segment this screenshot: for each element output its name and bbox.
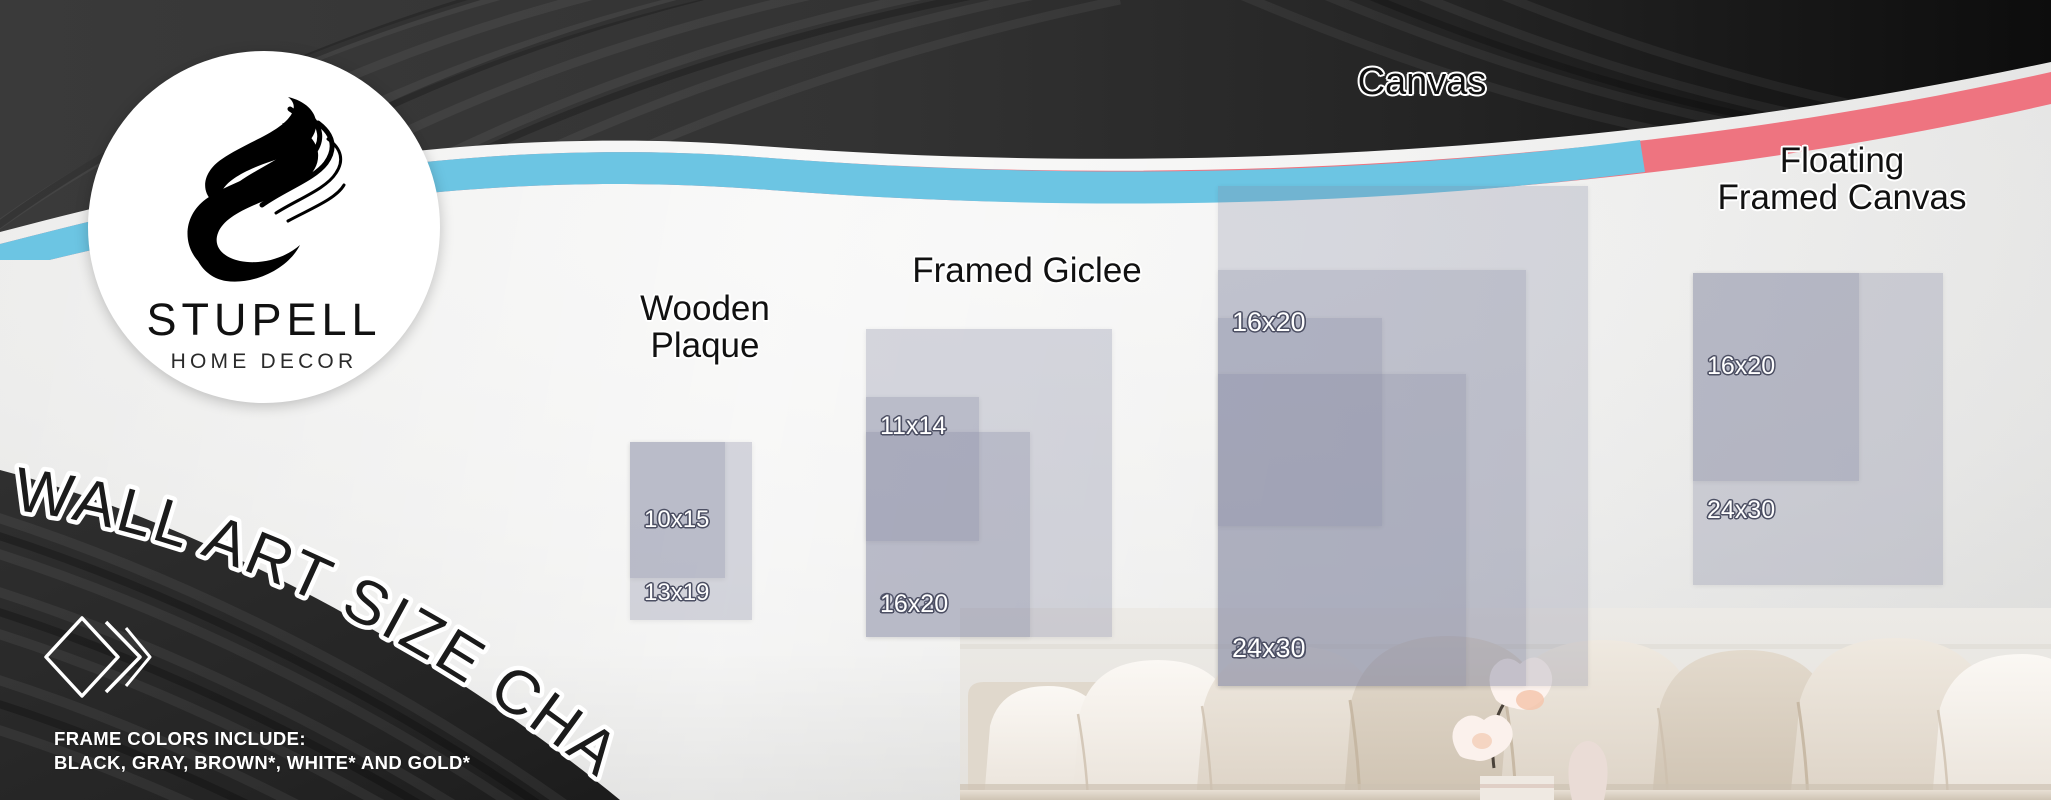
stupell-logo-badge: STUPELL HOME DECOR [88, 51, 440, 403]
size-label-24x30: 24x30 [1232, 633, 1306, 664]
size-box-16x20: 16x20 [1693, 273, 1859, 481]
size-box-10x15: 10x15 [630, 442, 725, 578]
product-group-framed-giclee: Framed Giclee 24x30 16x20 11x14 [840, 252, 1170, 637]
size-label-16x20: 16x20 [1232, 307, 1306, 338]
stupell-s-swoosh-logo [176, 93, 352, 293]
product-group-canvas: Canvas 36x48 30x40 24x30 16x20 [1200, 62, 1600, 686]
size-label-16x20: 16x20 [1707, 352, 1775, 381]
size-label-11x14: 11x14 [880, 412, 946, 441]
frame-colors-note: FRAME COLORS INCLUDE: BLACK, GRAY, BROWN… [54, 727, 470, 776]
group-title-canvas: Canvas [1222, 62, 1622, 102]
size-box-16x20: 16x20 [1218, 318, 1382, 526]
size-label-10x15: 10x15 [644, 506, 709, 534]
group-title-floating-framed-canvas: Floating Framed Canvas [1677, 142, 2007, 216]
diamond-chevron-icon [40, 612, 165, 702]
brand-name: STUPELL [146, 297, 381, 342]
brand-tagline: HOME DECOR [171, 351, 358, 372]
group-title-wooden-plaque: Wooden Plaque [590, 290, 820, 364]
size-label-13x19: 13x19 [644, 579, 709, 607]
size-stack-floating-framed-canvas: 24x30 16x20 [1655, 240, 1985, 585]
product-group-floating-framed-canvas: Floating Framed Canvas 24x30 16x20 [1655, 142, 1985, 585]
size-stack-framed-giclee: 24x30 16x20 11x14 [840, 307, 1170, 637]
size-box-11x14: 11x14 [866, 397, 979, 541]
product-group-wooden-plaque: Wooden Plaque 13x19 10x15 [600, 290, 830, 620]
size-chart-banner: STUPELL HOME DECOR WALL ART SIZE CHART F… [0, 0, 2051, 800]
size-stack-wooden-plaque: 13x19 10x15 [600, 380, 830, 620]
size-label-24x30: 24x30 [1707, 496, 1775, 525]
size-stack-canvas: 36x48 30x40 24x30 16x20 [1200, 116, 1600, 686]
group-title-framed-giclee: Framed Giclee [862, 252, 1192, 289]
size-label-16x20: 16x20 [880, 590, 948, 619]
